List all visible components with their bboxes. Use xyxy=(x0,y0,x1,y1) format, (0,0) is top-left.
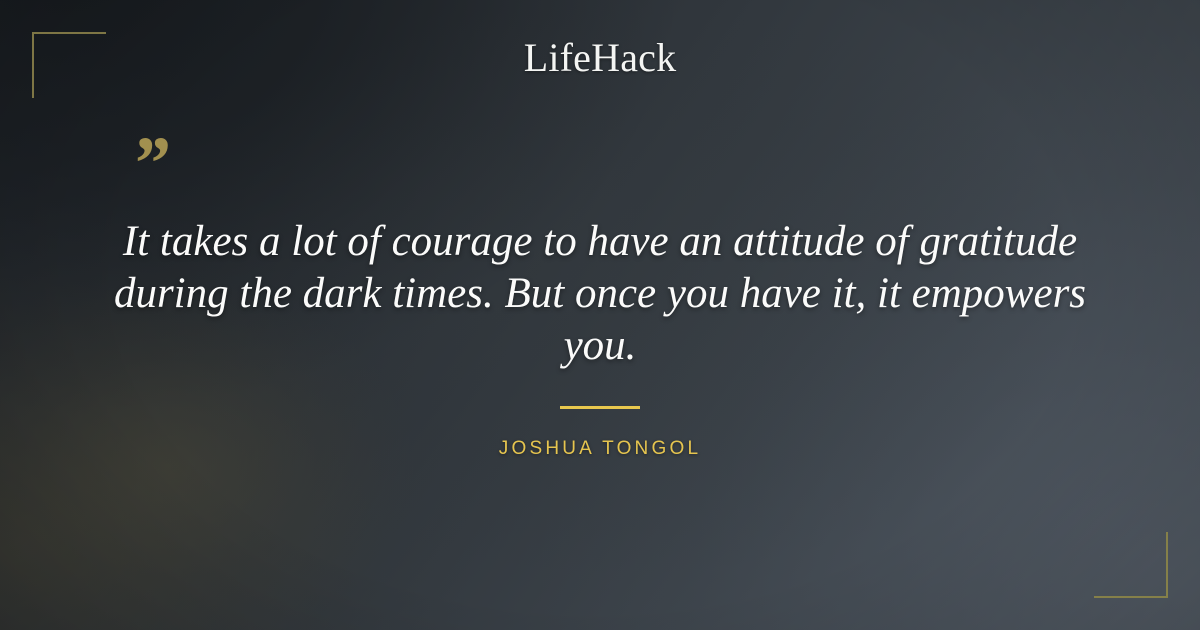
quotation-mark-icon: ” xyxy=(131,126,169,202)
quote-author: JOSHUA TONGOL xyxy=(0,438,1200,460)
quote-card: LifeHack ” It takes a lot of courage to … xyxy=(0,0,1200,630)
corner-bracket-bottom-right-icon xyxy=(1094,532,1168,598)
divider-rule xyxy=(560,406,640,409)
quote-text: It takes a lot of courage to have an att… xyxy=(110,216,1090,372)
lifehack-logo[interactable]: LifeHack xyxy=(0,38,1200,78)
